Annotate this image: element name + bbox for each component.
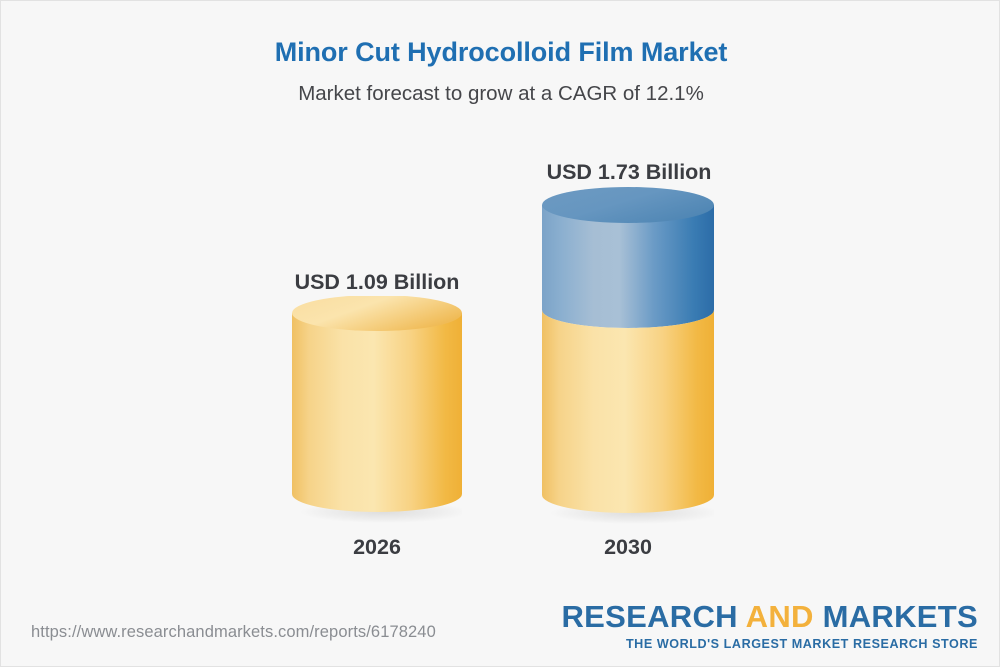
bar-cylinder-2026 bbox=[292, 296, 462, 526]
bar-value-label-2026: USD 1.09 Billion bbox=[292, 269, 462, 295]
logo-word-research: RESEARCH bbox=[562, 599, 746, 634]
bar-category-label-2026: 2026 bbox=[292, 534, 462, 560]
bar-value-label-2030: USD 1.73 Billion bbox=[543, 159, 715, 185]
bar-cylinder-2030 bbox=[542, 187, 714, 527]
chart-card: Minor Cut Hydrocolloid Film Market Marke… bbox=[0, 0, 1000, 667]
logo-word-and: AND bbox=[746, 599, 814, 634]
logo-word-markets: MARKETS bbox=[814, 599, 978, 634]
report-url[interactable]: https://www.researchandmarkets.com/repor… bbox=[31, 623, 436, 642]
logo-tagline: THE WORLD'S LARGEST MARKET RESEARCH STOR… bbox=[562, 638, 979, 651]
chart-plot-area: USD 1.09 Billion bbox=[1, 1, 1000, 667]
research-and-markets-logo[interactable]: RESEARCH AND MARKETS THE WORLD'S LARGEST… bbox=[562, 601, 979, 651]
bar-category-label-2030: 2030 bbox=[542, 534, 714, 560]
logo-wordmark: RESEARCH AND MARKETS bbox=[562, 601, 979, 632]
